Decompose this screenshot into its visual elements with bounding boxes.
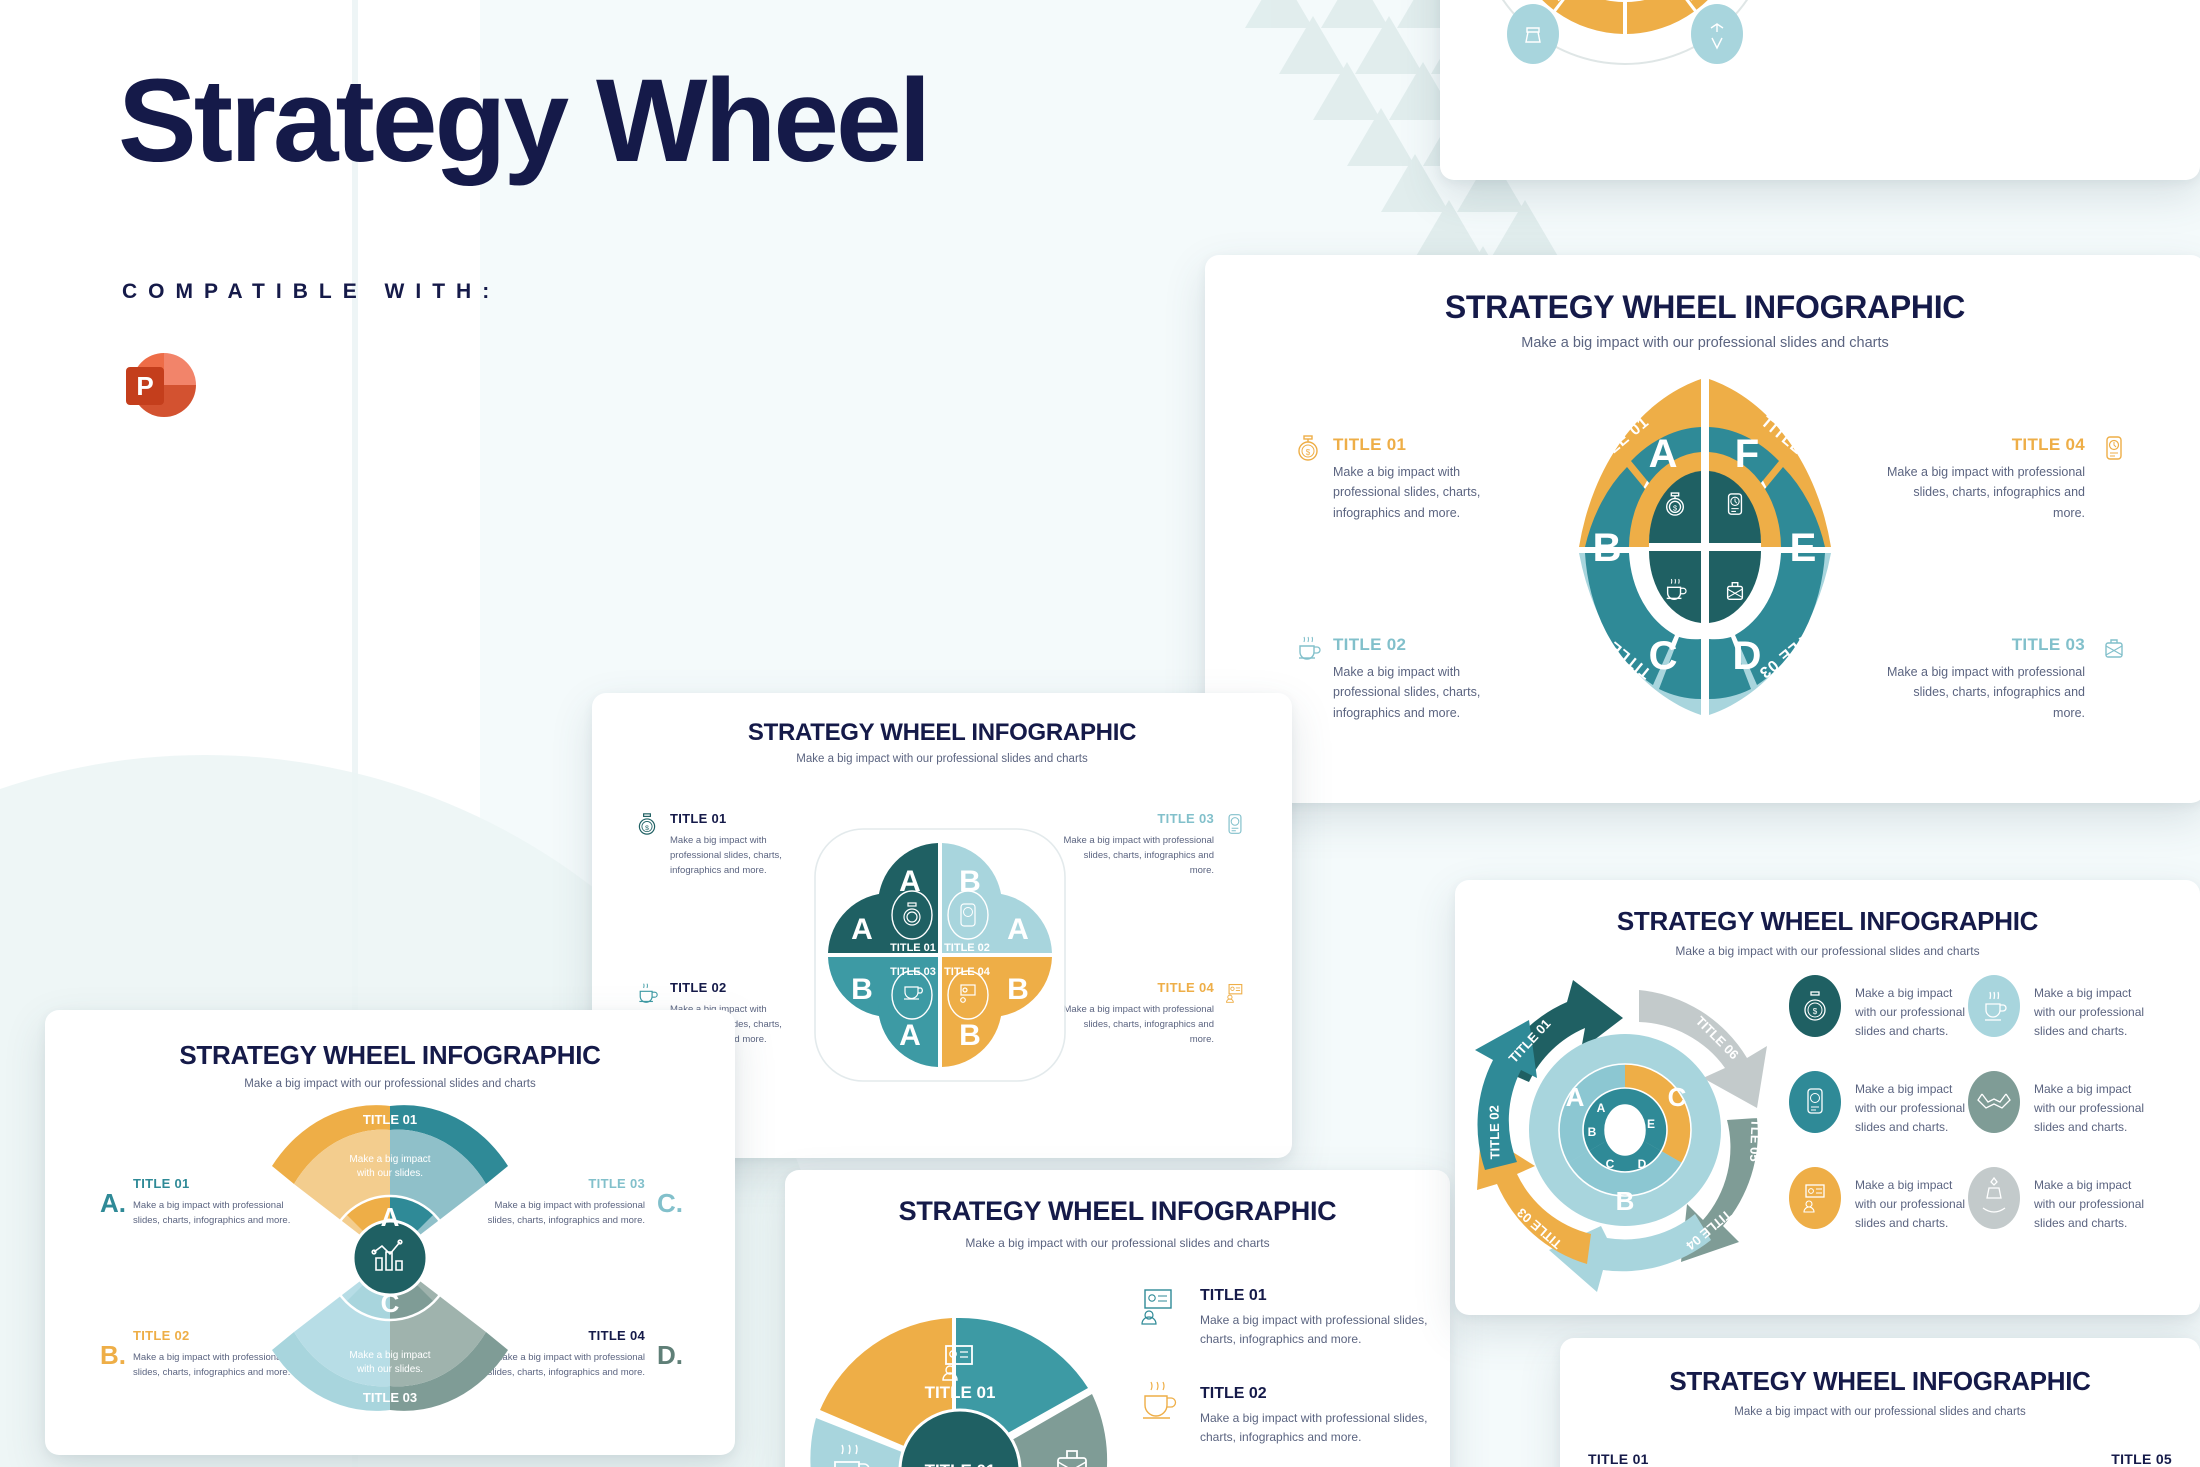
svg-text:with our slides.: with our slides. (356, 1168, 423, 1179)
svg-text:$: $ (1813, 1007, 1818, 1016)
svg-text:with our professional: with our professional (2033, 1005, 2144, 1019)
svg-text:Make a big impact: Make a big impact (1855, 1082, 1953, 1096)
svg-text:C: C (381, 1288, 400, 1318)
svg-text:B: B (329, 1246, 348, 1276)
svg-text:D: D (1638, 1157, 1647, 1171)
svg-text:Make a big impact: Make a big impact (1855, 1178, 1953, 1192)
svg-text:TITLE 05: TITLE 05 (1747, 1107, 1764, 1162)
page-title: Strategy Wheel (118, 60, 928, 184)
svg-text:B: B (1007, 973, 1029, 1006)
svg-text:TITLE 02: TITLE 02 (1200, 1385, 1267, 1402)
svg-text:slides and charts.: slides and charts. (1855, 1216, 1948, 1230)
svg-text:TITLE 01: TITLE 01 (363, 1112, 417, 1127)
card2-wheel: $ (1205, 255, 2200, 803)
svg-text:C: C (1668, 1082, 1687, 1112)
card6-wheel: A C B A E B C D TITLE 01 TITLE 02 TITLE … (1455, 880, 2200, 1315)
svg-text:TITLE 03: TITLE 03 (890, 966, 936, 978)
card6-legend: $ Make a big impact with our professiona… (1789, 975, 2144, 1230)
svg-text:with our slides.: with our slides. (356, 1364, 423, 1375)
card5-center-label: TITLE 01 (925, 1461, 996, 1467)
svg-text:slides and charts.: slides and charts. (2034, 1216, 2127, 1230)
svg-text:Make a big impact: Make a big impact (1855, 986, 1953, 1000)
powerpoint-icon: P (122, 345, 202, 425)
svg-text:with our slides.: with our slides. (457, 1224, 468, 1291)
svg-text:with our professional: with our professional (1854, 1101, 1965, 1115)
compatible-with-label: COMPATIBLE WITH: (122, 280, 500, 304)
svg-text:P: P (136, 371, 153, 401)
svg-text:B: B (1616, 1186, 1635, 1216)
svg-text:Make a big impact with profess: Make a big impact with professional slid… (1200, 1411, 1427, 1425)
svg-text:slides and charts.: slides and charts. (1855, 1024, 1948, 1038)
svg-text:Make a big impact: Make a big impact (298, 1217, 309, 1298)
slide-card-main-oval-wheel[interactable]: STRATEGY WHEEL INFOGRAPHIC Make a big im… (1205, 255, 2200, 803)
svg-text:E: E (1790, 526, 1817, 570)
svg-text:TITLE 01: TITLE 01 (890, 942, 936, 954)
svg-text:charts, infographics and more.: charts, infographics and more. (1200, 1332, 1361, 1346)
card7-wheel: $ (1560, 1338, 2200, 1467)
slide-card-arrow-cycle[interactable]: STRATEGY WHEEL INFOGRAPHIC Make a big im… (1455, 880, 2200, 1315)
svg-text:charts, infographics and more.: charts, infographics and more. (1200, 1430, 1361, 1444)
svg-text:D: D (433, 1246, 452, 1276)
svg-text:TITLE 02: TITLE 02 (262, 1231, 277, 1285)
card4-wheel: A B C D TITLE 01 TITLE 03 TITLE 02 TITLE… (45, 1010, 735, 1455)
svg-text:with our professional: with our professional (1854, 1005, 1965, 1019)
svg-text:TITLE 03: TITLE 03 (363, 1390, 417, 1405)
svg-text:TITLE 01: TITLE 01 (925, 1383, 996, 1402)
svg-text:TITLE 02: TITLE 02 (1487, 1105, 1503, 1159)
svg-text:slides and charts.: slides and charts. (1855, 1120, 1948, 1134)
svg-text:E: E (1647, 1117, 1655, 1131)
slide-card-pie-wheel[interactable]: STRATEGY WHEEL INFOGRAPHIC Make a big im… (785, 1170, 1450, 1467)
svg-text:D: D (1733, 634, 1762, 678)
svg-text:Make a big impact: Make a big impact (471, 1217, 482, 1298)
svg-text:F: F (1735, 432, 1759, 476)
svg-text:Make a big impact: Make a big impact (2034, 986, 2132, 1000)
card5-wheel: TITLE 01 TITLE 01 TITLE 02 TITLE 04 (785, 1170, 1450, 1467)
svg-text:B: B (1588, 1125, 1597, 1139)
coffee-cup-icon (1143, 1382, 1176, 1418)
svg-text:B: B (1593, 526, 1622, 570)
slide-card-5step-wheel[interactable]: TITLE 01 A B C D E TITLE 02 TITLE 05 TIT… (1440, 0, 2200, 180)
svg-text:$: $ (1673, 504, 1677, 513)
svg-text:A: A (899, 1019, 921, 1052)
svg-text:C: C (1606, 1157, 1615, 1171)
page-root: Strategy Wheel COMPATIBLE WITH: P (0, 0, 2200, 1467)
slide-card-quadrant-wheel[interactable]: STRATEGY WHEEL INFOGRAPHIC Make a big im… (45, 1010, 735, 1455)
slide-card-circle-row[interactable]: STRATEGY WHEEL INFOGRAPHIC Make a big im… (1560, 1338, 2200, 1467)
svg-text:A: A (381, 1202, 400, 1232)
card5-legend: TITLE 01 Make a big impact with professi… (1142, 1287, 1427, 1467)
svg-text:B: B (959, 1019, 981, 1052)
svg-text:A: A (851, 913, 873, 946)
svg-text:slides and charts.: slides and charts. (2034, 1024, 2127, 1038)
svg-text:TITLE 04: TITLE 04 (944, 966, 991, 978)
svg-text:A: A (1597, 1101, 1606, 1115)
svg-text:Make a big impact: Make a big impact (349, 1154, 430, 1165)
svg-text:with our slides.: with our slides. (312, 1225, 323, 1292)
svg-text:slides and charts.: slides and charts. (2034, 1120, 2127, 1134)
svg-text:Make a big impact: Make a big impact (349, 1350, 430, 1361)
svg-text:with our professional: with our professional (2033, 1101, 2144, 1115)
svg-text:Make a big impact with profess: Make a big impact with professional slid… (1200, 1313, 1427, 1327)
svg-text:with our professional: with our professional (1854, 1197, 1965, 1211)
svg-text:TITLE 01: TITLE 01 (1200, 1287, 1267, 1304)
svg-text:A: A (1566, 1082, 1585, 1112)
svg-text:Make a big impact: Make a big impact (2034, 1178, 2132, 1192)
svg-text:TITLE 04: TITLE 04 (503, 1231, 518, 1286)
presentation-icon (1142, 1290, 1171, 1324)
svg-text:Make a big impact: Make a big impact (2034, 1082, 2132, 1096)
svg-text:with our professional: with our professional (2033, 1197, 2144, 1211)
svg-text:A: A (1649, 432, 1678, 476)
svg-text:B: B (851, 973, 873, 1006)
svg-text:TITLE 02: TITLE 02 (944, 942, 990, 954)
svg-text:A: A (1007, 913, 1029, 946)
